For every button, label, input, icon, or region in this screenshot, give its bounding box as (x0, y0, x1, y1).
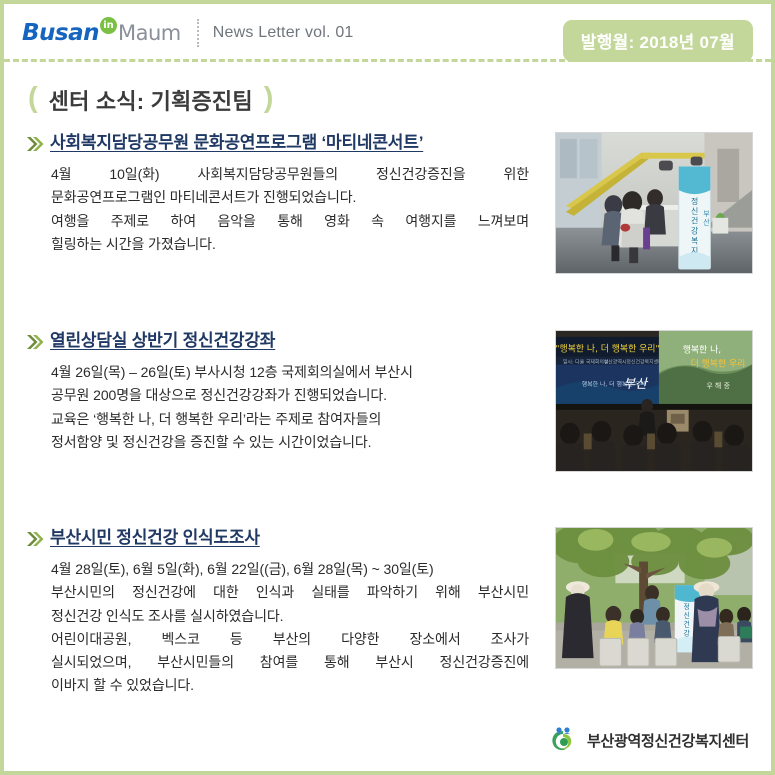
logo-in-circle-icon: in (100, 17, 117, 34)
article-item: 부산시민 정신건강 인식도조사 4월 28일(토), 6월 5일(화), 6월 … (4, 527, 771, 698)
article-body-line: 공무원 200명을 대상으로 정신건강강좌가 진행되었습니다. (51, 384, 529, 407)
svg-text:일시: 다율 국제회의실: 일시: 다율 국제회의실 (563, 359, 609, 366)
article-text-block: 사회복지담당공무원 문화공연프로그램 ‘마티네콘서트’ 4월 10일(화) 사회… (26, 132, 546, 256)
bracket-right-icon: ) (264, 84, 274, 113)
svg-text:건: 건 (683, 620, 689, 629)
svg-text:더 행복한 우리: 더 행복한 우리 (691, 358, 746, 370)
article-heading: 사회복지담당공무원 문화공연프로그램 ‘마티네콘서트’ (26, 132, 546, 153)
article-body: 4월 26일(목) – 26일(토) 부사시청 12층 국제회의실에서 부산시 … (51, 361, 529, 454)
logo-text-busan: Busan (22, 20, 99, 46)
page-header: Busan in Maum News Letter vol. 01 발행월: 2… (4, 4, 771, 62)
article-body-line: 부산시민의 정신건강에 대한 인식과 실태를 파악하기 위해 부산시민 (51, 581, 529, 604)
article-photo: 정 신 건 강 복 지 부 산 (555, 132, 753, 274)
article-body-line: 정서함양 및 정신건강을 증진할 수 있는 시간이었습니다. (51, 431, 529, 454)
svg-text:"행복한 나, 더 행복한 우리": "행복한 나, 더 행복한 우리" (556, 343, 660, 355)
photo-lecture-hall: "행복한 나, 더 행복한 우리" 일시: 다율 국제회의실 부산광역시정신건강… (556, 331, 752, 471)
article-body-line: 4월 26일(목) – 26일(토) 부사시청 12층 국제회의실에서 부산시 (51, 361, 529, 384)
article-body: 4월 10일(화) 사회복지담당공무원들의 정신건강증진을 위한 문화공연프로그… (51, 163, 529, 256)
svg-text:산: 산 (703, 218, 710, 227)
svg-text:행복한 나,: 행복한 나, (683, 344, 721, 356)
article-body: 4월 28일(토), 6월 5일(화), 6월 22일((금), 6월 28일(… (51, 558, 529, 697)
double-chevron-right-icon (26, 332, 44, 352)
article-body-line: 교육은 ‘행복한 나, 더 행복한 우리’라는 주제로 참여자들의 (51, 408, 529, 431)
svg-text:건: 건 (691, 216, 698, 226)
double-chevron-right-icon (26, 529, 44, 549)
svg-text:부산광역시정신건강복지센터: 부산광역시정신건강복지센터 (604, 359, 663, 366)
article-body-line: 이바지 할 수 있었습니다. (51, 674, 529, 697)
article-text-block: 부산시민 정신건강 인식도조사 4월 28일(토), 6월 5일(화), 6월 … (26, 527, 546, 698)
article-item: 사회복지담당공무원 문화공연프로그램 ‘마티네콘서트’ 4월 10일(화) 사회… (4, 132, 771, 274)
page-footer: 부산광역정신건강복지센터 (548, 725, 749, 755)
article-body-line: 여행을 주제로 하여 음악을 통해 영화 속 여행지를 느껴보며 (51, 210, 529, 233)
svg-text:정: 정 (691, 196, 698, 206)
svg-text:복: 복 (691, 236, 698, 245)
article-photo: "행복한 나, 더 행복한 우리" 일시: 다율 국제회의실 부산광역시정신건강… (555, 330, 753, 472)
article-body-line: 정신건강 인식도 조사를 실시하였습니다. (51, 605, 529, 628)
article-body-line: 실시되었으며, 부산시민들의 참여를 통해 부산시 정신건강증진에 (51, 651, 529, 674)
article-body-line: 어린이대공원, 벡스코 등 부산의 다양한 장소에서 조사가 (51, 628, 529, 651)
article-list: 사회복지담당공무원 문화공연프로그램 ‘마티네콘서트’ 4월 10일(화) 사회… (4, 114, 771, 698)
article-heading: 열린상담실 상반기 정신건강강좌 (26, 330, 546, 351)
newsletter-page: Busan in Maum News Letter vol. 01 발행월: 2… (0, 0, 775, 775)
photo-outdoor-survey: 정 신 건 강 부 산 (556, 528, 752, 668)
svg-text:행복한 나, 더 행복한 우리: 행복한 나, 더 행복한 우리 (582, 380, 646, 388)
svg-text:신: 신 (683, 611, 689, 620)
svg-text:부: 부 (703, 210, 709, 218)
center-swirl-logo-icon (548, 725, 578, 755)
photo-lobby-reception: 정 신 건 강 복 지 부 산 (556, 133, 752, 273)
svg-text:강: 강 (691, 226, 698, 236)
svg-text:우 해 중: 우 해 중 (706, 381, 730, 390)
section-banner: ( 센터 소식: 기획증진팀 ) (4, 62, 771, 114)
article-photo: 정 신 건 강 부 산 (555, 527, 753, 669)
header-dashed-rule (4, 59, 771, 62)
issue-date-badge: 발행월: 2018년 07월 (563, 20, 753, 62)
footer-center-name: 부산광역정신건강복지센터 (587, 730, 749, 751)
article-body-line: 4월 10일(화) 사회복지담당공무원들의 정신건강증진을 위한 (51, 163, 529, 186)
newsletter-volume-label: News Letter vol. 01 (213, 24, 354, 42)
brand-row: Busan in Maum News Letter vol. 01 (22, 16, 354, 50)
article-text-block: 열린상담실 상반기 정신건강강좌 4월 26일(목) – 26일(토) 부사시청… (26, 330, 546, 454)
article-body-line: 문화공연프로그램인 마티네콘서트가 진행되었습니다. (51, 186, 529, 209)
logo-text-maum: Maum (118, 21, 181, 45)
article-body-line: 4월 28일(토), 6월 5일(화), 6월 22일((금), 6월 28일(… (51, 558, 529, 581)
svg-text:신: 신 (691, 207, 698, 216)
busan-in-maum-logo: Busan in Maum (22, 20, 181, 46)
double-chevron-right-icon (26, 134, 44, 154)
article-title: 열린상담실 상반기 정신건강강좌 (50, 330, 275, 351)
svg-text:강: 강 (683, 628, 690, 637)
article-title: 부산시민 정신건강 인식도조사 (50, 527, 260, 548)
section-title: 센터 소식: 기획증진팀 (49, 84, 253, 116)
article-title: 사회복지담당공무원 문화공연프로그램 ‘마티네콘서트’ (50, 132, 423, 153)
article-item: 열린상담실 상반기 정신건강강좌 4월 26일(목) – 26일(토) 부사시청… (4, 330, 771, 472)
header-divider (197, 19, 199, 47)
bracket-left-icon: ( (28, 84, 38, 113)
svg-text:정: 정 (683, 602, 689, 611)
article-body-line: 힐링하는 시간을 가졌습니다. (51, 233, 529, 256)
article-heading: 부산시민 정신건강 인식도조사 (26, 527, 546, 548)
